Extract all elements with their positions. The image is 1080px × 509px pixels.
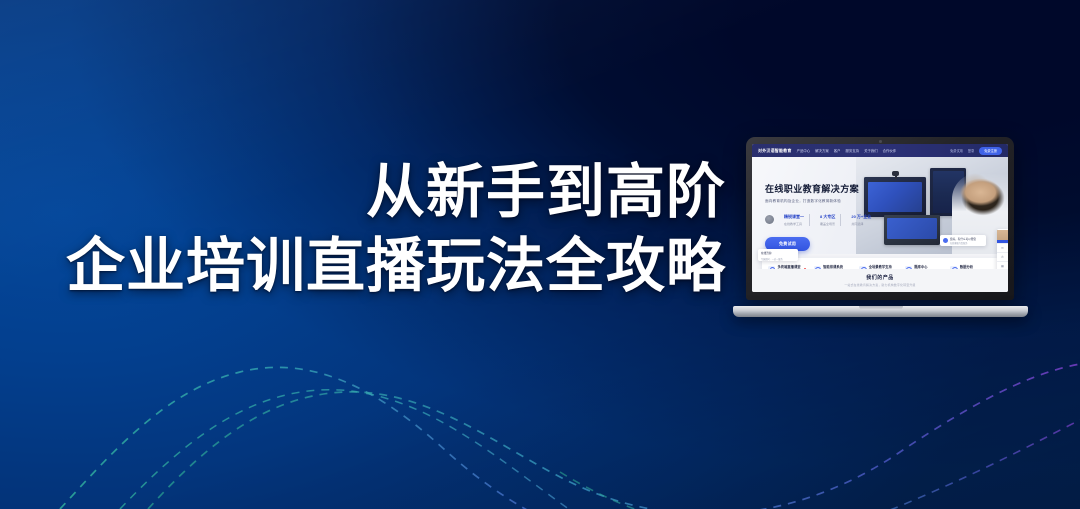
headline-line-1: 从新手到高阶: [0, 158, 726, 228]
website-navbar: 对外汉语智能教育 产品中心 解决方案 客户 服务支持 关于我们 合作伙伴 免费试…: [752, 144, 1008, 157]
feature-card-0-badge: [804, 268, 806, 269]
hero-stats: 精锐课堂一 在线教学工具 8 大专区 覆盖全场景 20 万+企业 共同选择: [765, 214, 876, 226]
laptop-mockup: 对外汉语智能教育 产品中心 解决方案 客户 服务支持 关于我们 合作伙伴 免费试…: [733, 137, 1028, 317]
hero-stat-1-value: 覆盖全场景: [820, 222, 835, 226]
feature-card-3-title: 题库中心: [914, 264, 937, 269]
headline-line-2: 企业培训直播玩法全攻略: [0, 232, 726, 302]
feature-card-0-title: 多终端直播课堂: [778, 264, 801, 269]
globe-icon: [859, 266, 866, 270]
user-avatar-icon: [765, 215, 774, 224]
chat-bubble-line-1: 您好，有什么可以帮您: [950, 237, 976, 241]
hero-subtitle: 面向教育机构及企业，打造数字化教育新体验: [765, 199, 876, 204]
service-avatar-icon[interactable]: [997, 230, 1008, 243]
nav-register-button[interactable]: 免费注册: [979, 147, 1002, 155]
phone-icon[interactable]: ✆: [997, 252, 1008, 261]
chat-bubble-line-2: 在线客服为您服务: [950, 241, 976, 245]
consult-card-line-1: 在线咨询: [761, 251, 795, 255]
feature-card-4[interactable]: 数据分析 学情洞察 · 实时报表: [948, 264, 994, 269]
products-subtitle: 一站式在线教育解决方案，助力机构数字化转型升级: [844, 283, 915, 287]
hero-copy: 在线职业教育解决方案 面向教育机构及企业，打造数字化教育新体验 精锐课堂一 在线…: [765, 182, 876, 251]
monitor-laptop: [884, 215, 940, 245]
nav-item-3[interactable]: 服务支持: [846, 148, 860, 153]
hero-stat-2-value: 共同选择: [851, 222, 871, 226]
chat-bubble[interactable]: 您好，有什么可以帮您 在线客服为您服务: [940, 235, 986, 246]
qrcode-icon[interactable]: ▦: [997, 261, 1008, 269]
consult-card[interactable]: 在线咨询 专属顾问 · 一对一服务: [758, 249, 798, 261]
hero-stat-0-key: 精锐课堂一: [784, 214, 804, 220]
hero-stat-2-key: 20 万+企业: [851, 214, 871, 220]
nav-utility-1[interactable]: 登录: [968, 148, 974, 153]
layers-icon: [905, 266, 912, 270]
promo-banner: 从新手到高阶 企业培训直播玩法全攻略 对外汉语智能教育 产品中心 解决方案 客户…: [0, 0, 1080, 509]
hero-stat-1-key: 8 大专区: [820, 214, 835, 220]
nav-item-4[interactable]: 关于我们: [864, 148, 878, 153]
feature-card-0[interactable]: 多终端直播课堂 高清互动 · 低延迟: [766, 264, 812, 269]
laptop-lid: 对外汉语智能教育 产品中心 解决方案 客户 服务支持 关于我们 合作伙伴 免费试…: [746, 137, 1014, 300]
consult-card-line-2: 专属顾问 · 一对一服务: [761, 257, 795, 261]
hero-stat-0-value: 在线教学工具: [784, 222, 804, 226]
nav-item-1[interactable]: 解决方案: [815, 148, 829, 153]
nav-item-2[interactable]: 客户: [834, 148, 841, 153]
hero-title: 在线职业教育解决方案: [765, 182, 876, 195]
banner-headline: 从新手到高阶 企业培训直播玩法全攻略: [0, 158, 740, 301]
feature-card-1-title: 智能排课系统: [823, 264, 846, 269]
hero-stat-1: 8 大专区 覆盖全场景: [815, 214, 841, 226]
feature-card-4-title: 数据分析: [960, 264, 983, 269]
agent-avatar-icon: [943, 238, 948, 243]
feature-card-1[interactable]: 智能排课系统 自动排期 · 灵活调整: [812, 264, 858, 269]
camera-pole: [895, 175, 897, 179]
laptop-notch: [859, 306, 903, 310]
feature-card-3[interactable]: 题库中心 海量题库 · 智能组卷: [903, 264, 949, 269]
laptop-screen: 对外汉语智能教育 产品中心 解决方案 客户 服务支持 关于我们 合作伙伴 免费试…: [752, 144, 1008, 292]
video-icon: [768, 266, 775, 270]
products-title: 我们的产品: [866, 274, 894, 281]
nav-item-5[interactable]: 合作伙伴: [883, 148, 897, 153]
website-hero: 在线职业教育解决方案 面向教育机构及企业，打造数字化教育新体验 精锐课堂一 在线…: [752, 157, 1008, 269]
search-icon: [950, 266, 957, 270]
hero-photo: [856, 157, 1008, 269]
nav-item-0[interactable]: 产品中心: [797, 148, 811, 153]
laptop-base: [733, 306, 1028, 317]
nav-utility-0[interactable]: 免费试用: [950, 148, 963, 153]
hero-stat-2: 20 万+企业 共同选择: [846, 214, 876, 226]
clock-icon: [814, 266, 821, 270]
webcam-icon: [879, 140, 882, 143]
feature-card-2-title: 全场景教学支持: [869, 264, 892, 269]
message-icon[interactable]: ✉: [997, 243, 1008, 252]
hero-stat-0: 精锐课堂一 在线教学工具: [779, 214, 810, 226]
site-logo: 对外汉语智能教育: [758, 148, 792, 154]
feature-card-2[interactable]: 全场景教学支持 随时随地 · 多端同步: [857, 264, 903, 269]
side-service-rail[interactable]: ✉ ✆ ▦ ▲: [997, 229, 1008, 269]
